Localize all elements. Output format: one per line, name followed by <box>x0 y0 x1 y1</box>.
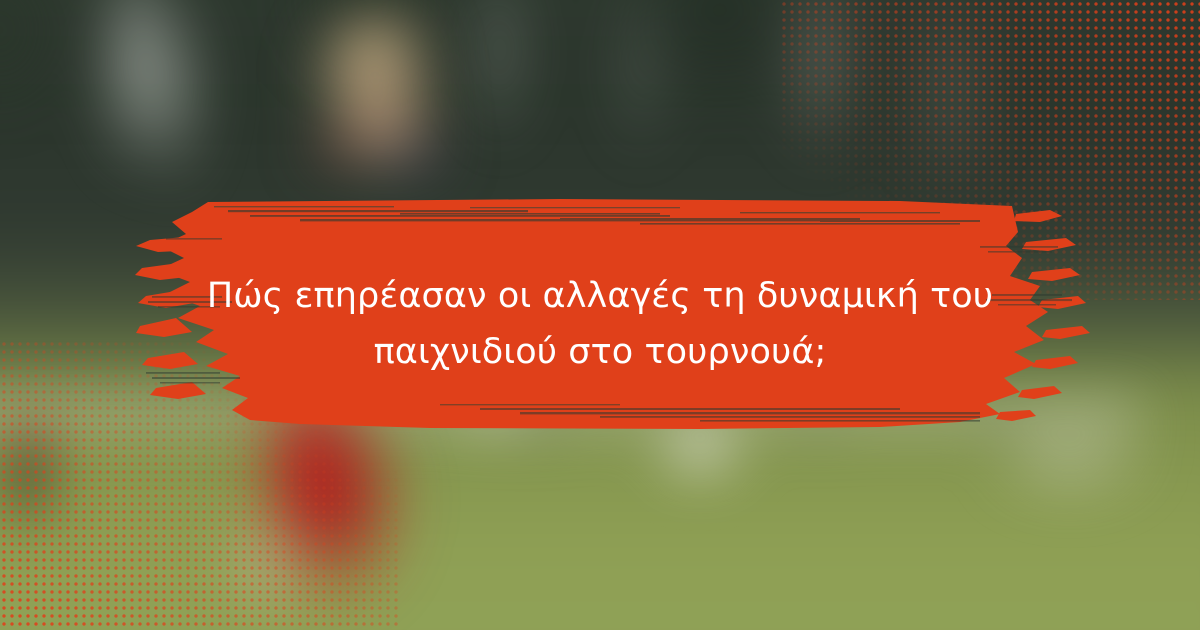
quote-line-2: παιχνιδιού στο τουρνουά; <box>150 324 1050 380</box>
quote-text: Πώς επηρέασαν οι αλλαγές τη δυναμική του… <box>150 268 1050 380</box>
quote-card: Πώς επηρέασαν οι αλλαγές τη δυναμική του… <box>0 0 1200 630</box>
quote-line-1: Πώς επηρέασαν οι αλλαγές τη δυναμική του <box>150 268 1050 324</box>
